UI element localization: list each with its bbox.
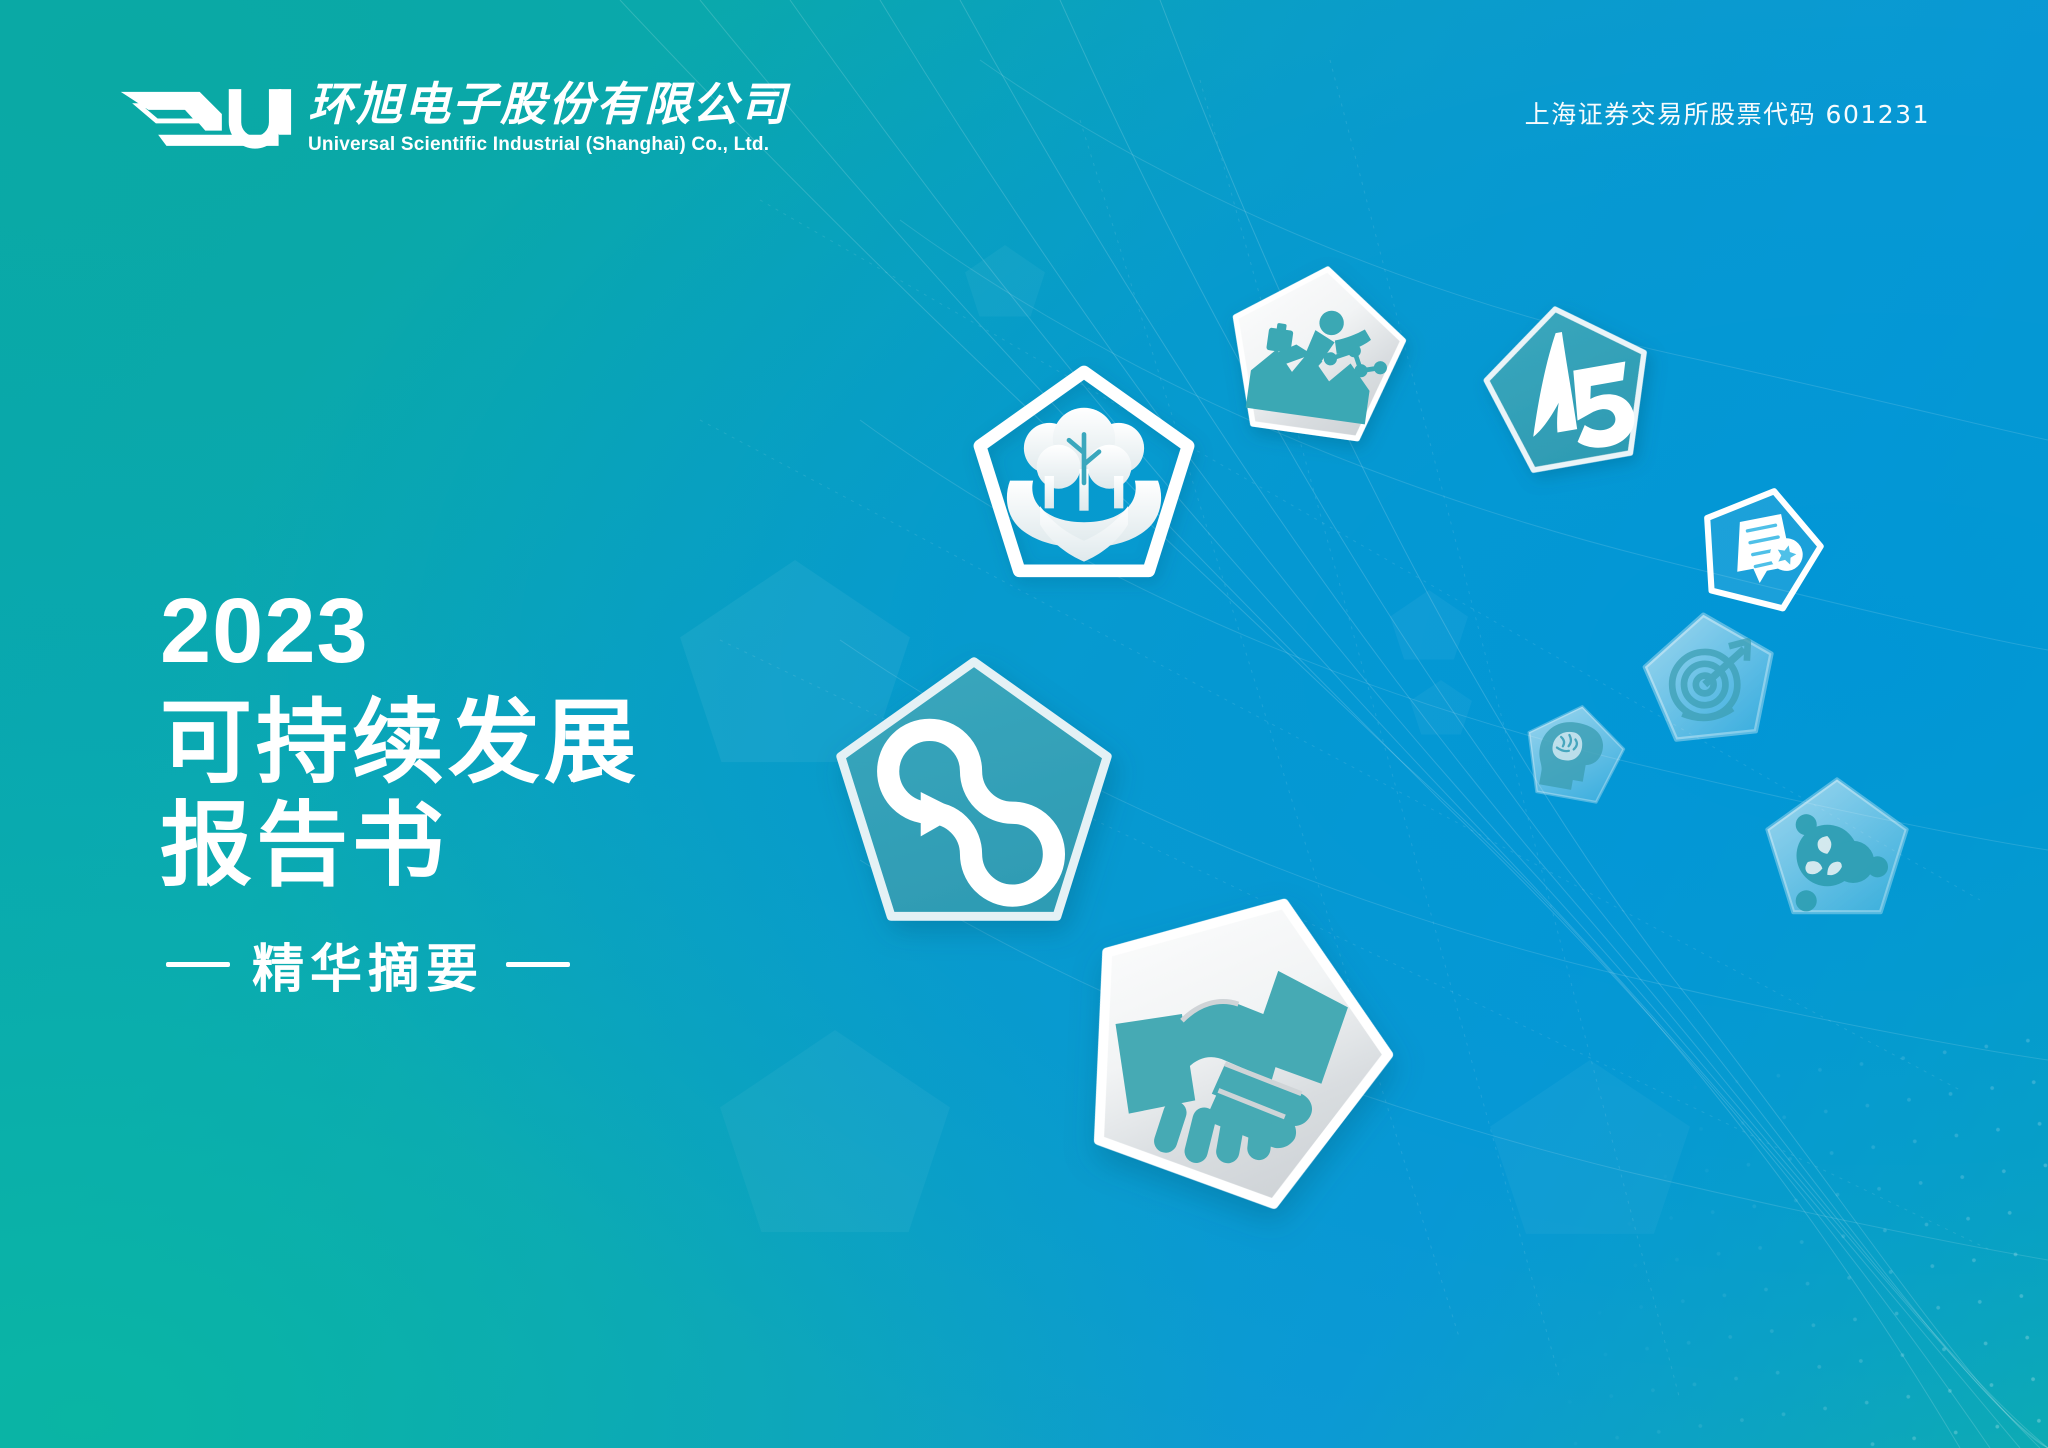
usi-logo-mark: USI [118, 78, 298, 150]
subtitle-row: 精华摘要 [166, 927, 640, 1002]
title-line-1: 可持续发展 [160, 691, 640, 794]
dot-pattern [1422, 1016, 2048, 1448]
badge-target[interactable] [1629, 599, 1791, 758]
report-year: 2023 [160, 585, 640, 677]
cover-title-block: 2023 可持续发展 报告书 精华摘要 [160, 585, 640, 1002]
title-line-2: 报告书 [160, 794, 640, 897]
stock-code: 上海证券交易所股票代码 601231 [1525, 95, 1930, 131]
subtitle-rule-right [506, 962, 570, 967]
pentagon-watermark [1410, 680, 1472, 738]
badge-tree-in-hands[interactable] [968, 365, 1200, 587]
badge-infinity[interactable] [826, 648, 1122, 936]
pentagon-watermark [965, 245, 1045, 321]
badge-brain[interactable] [1509, 691, 1638, 817]
badge-growth[interactable] [1210, 250, 1422, 456]
subtitle-text: 精华摘要 [252, 927, 484, 1002]
pentagon-watermark [1390, 590, 1468, 664]
company-name-cn: 环旭电子股份有限公司 [308, 80, 788, 128]
company-name-en: Universal Scientific Industrial (Shangha… [308, 134, 788, 156]
tree-in-hands-icon [1007, 408, 1161, 562]
pentagon-watermark [720, 1030, 950, 1245]
report-cover-page: USI 环旭电子股份有限公司 Universal Scientific Indu… [0, 0, 2048, 1448]
usi-logo: USI 环旭电子股份有限公司 Universal Scientific Indu… [118, 78, 788, 156]
subtitle-rule-left [166, 962, 230, 967]
badge-community[interactable] [1756, 770, 1918, 928]
badge-anniversary-15[interactable] [1464, 286, 1674, 491]
pentagon-watermark [1490, 1060, 1690, 1245]
cover-header: USI 环旭电子股份有限公司 Universal Scientific Indu… [0, 0, 2048, 190]
